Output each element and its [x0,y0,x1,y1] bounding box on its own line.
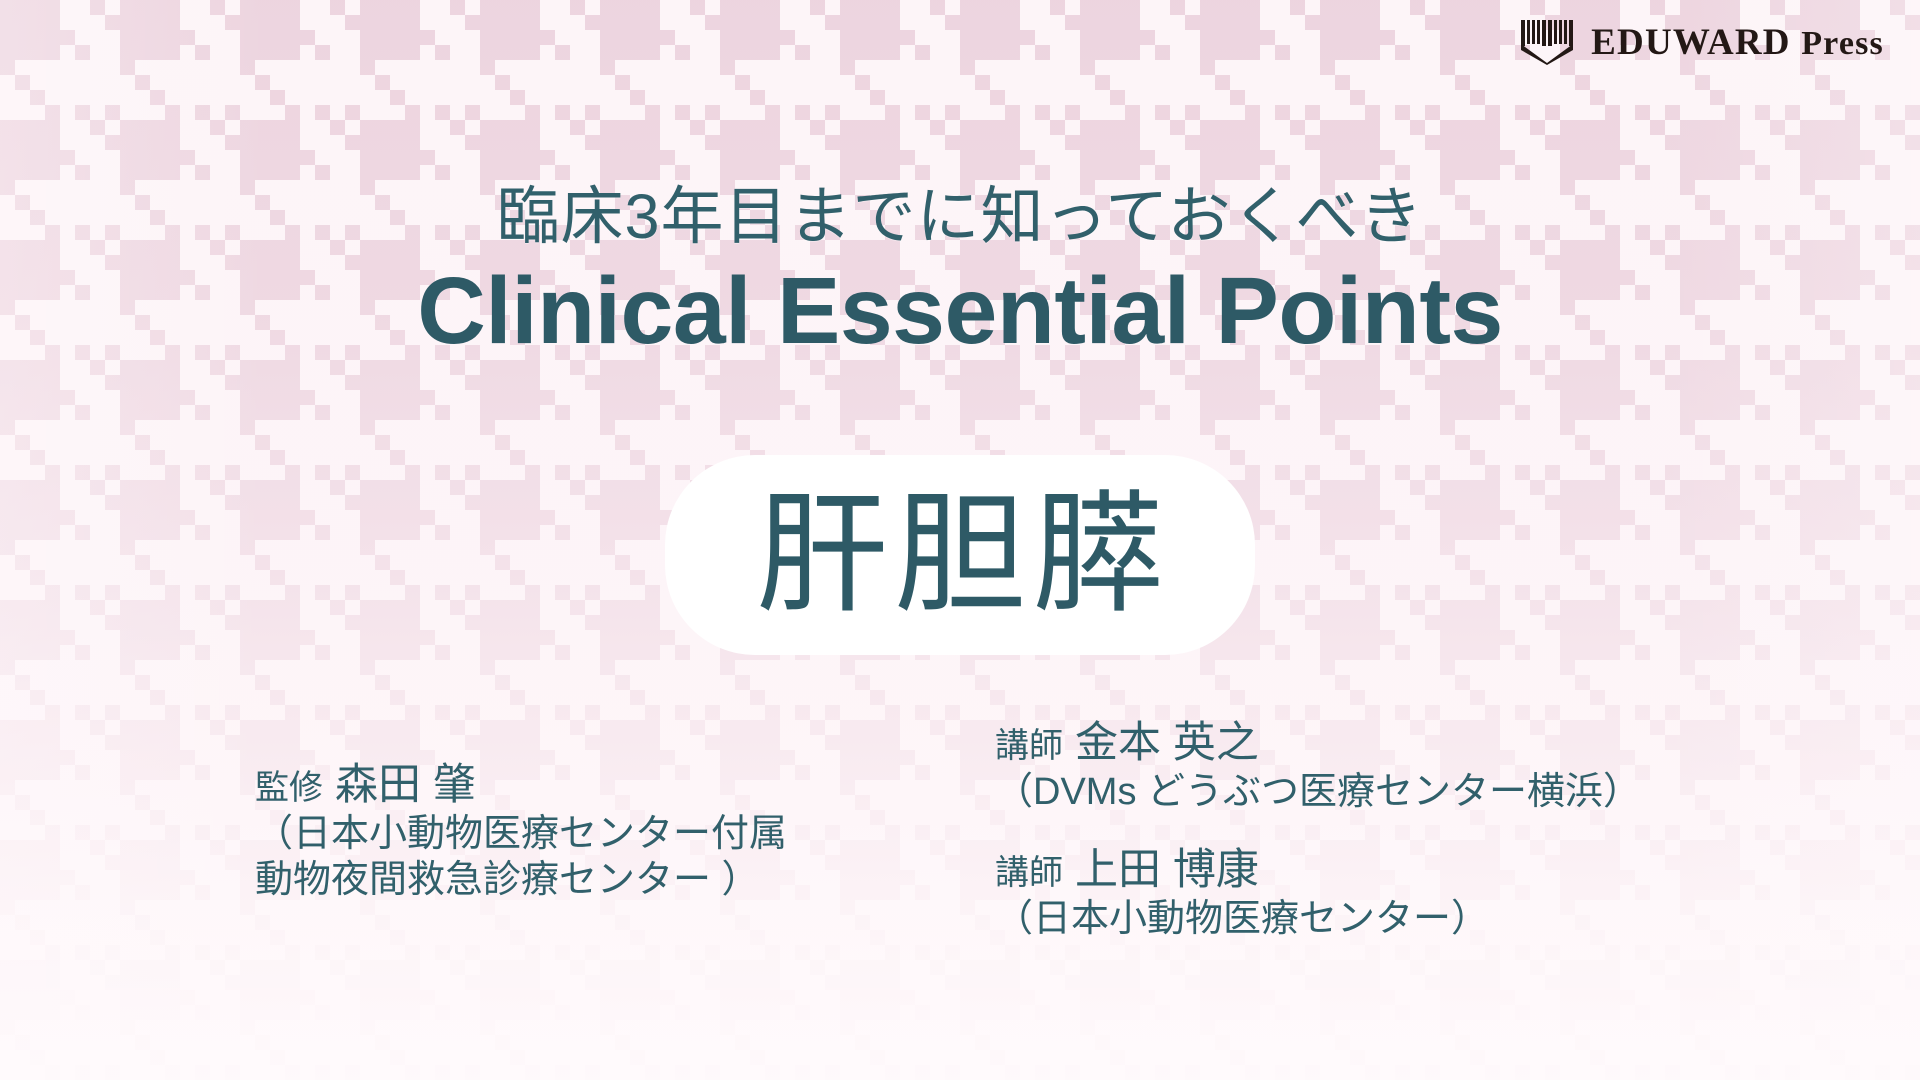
eduward-press-logo: EDUWARD Press [1519,18,1884,66]
lecturer-entry: 講師 金本 英之 （DVMs どうぶつ医療センター横浜） [995,718,1641,815]
lecturer-name-line: 講師 上田 博康 [995,845,1641,896]
title-group: 臨床3年目までに知っておくべき Clinical Essential Point… [0,186,1920,360]
supervisor-role: 監修 [255,769,323,807]
subtitle-japanese: 臨床3年目までに知っておくべき [0,186,1920,249]
book-pages-icon [1519,18,1575,66]
lecturer-entry: 講師 上田 博康 （日本小動物医療センター） [995,845,1641,942]
logo-name-main: EDUWARD [1591,22,1791,63]
credits-lecturers: 講師 金本 英之 （DVMs どうぶつ医療センター横浜） 講師 上田 博康 （日… [995,718,1641,942]
slide-canvas: EDUWARD Press 臨床3年目までに知っておくべき Clinical E… [0,0,1920,1080]
lecturer-role: 講師 [995,727,1063,765]
supervisor-name: 森田 肇 [335,761,476,809]
logo-name-sub: Press [1801,25,1884,62]
credits-supervisor: 監修 森田 肇 （日本小動物医療センター付属 動物夜間救急診療センター ） [255,760,787,903]
logo-wordmark: EDUWARD Press [1591,21,1884,64]
supervisor-name-line: 監修 森田 肇 [255,760,787,811]
topic-badge: 肝胆膵 [665,455,1255,655]
lecturer-name: 上田 博康 [1075,846,1259,894]
lecturer-name: 金本 英之 [1075,719,1259,767]
supervisor-affiliation-line1: （日本小動物医療センター付属 [255,811,787,857]
lecturer-name-line: 講師 金本 英之 [995,718,1641,769]
topic-badge-label: 肝胆膵 [750,489,1170,621]
supervisor-affiliation-line2: 動物夜間救急診療センター ） [255,857,787,903]
lecturer-affiliation: （DVMs どうぶつ医療センター横浜） [995,769,1641,815]
topic-badge-wrap: 肝胆膵 [0,455,1920,655]
lecturer-affiliation: （日本小動物医療センター） [995,896,1641,942]
page-title: Clinical Essential Points [0,263,1920,360]
lecturer-role: 講師 [995,854,1063,892]
